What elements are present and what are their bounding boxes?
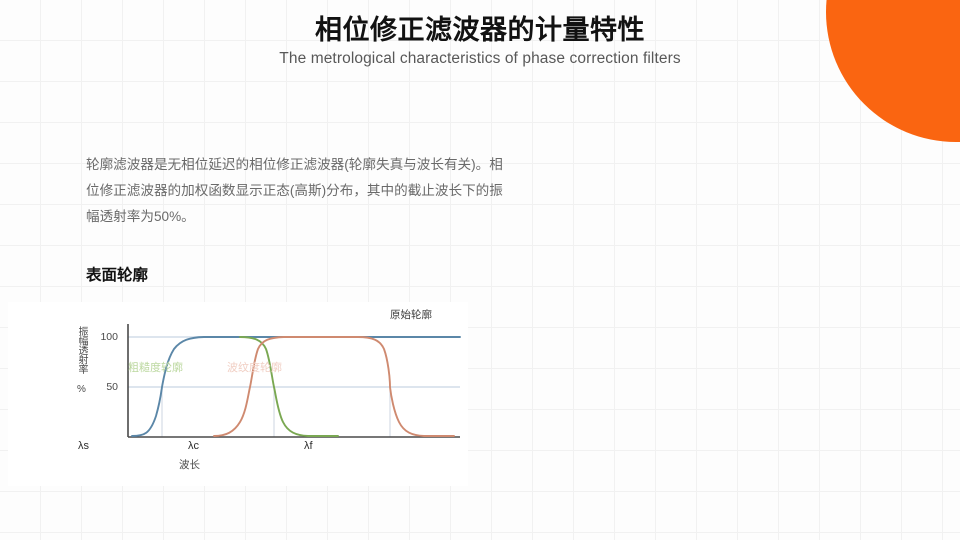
y-axis-tick-50: 50 [92,381,118,393]
page-subtitle: The metrological characteristics of phas… [0,50,960,68]
slide-canvas: 相位修正滤波器的计量特性 The metrological characteri… [0,0,960,540]
annotation-waviness-profile: 波纹度轮廓 [227,359,282,375]
page-title: 相位修正滤波器的计量特性 [0,8,960,47]
y-axis-title: 振幅透射率 % [76,326,86,395]
chart-plot-area: 原始轮廓 粗糙度轮廓 波纹度轮廓 100 50 振幅透射率 % λs λc λf… [8,302,468,486]
section-heading: 表面轮廓 [86,263,148,285]
x-axis-tick-lambda-f: λf [304,440,313,452]
body-paragraph: 轮廓滤波器是无相位延迟的相位修正滤波器(轮廓失真与波长有关)。相位修正滤波器的加… [86,152,506,230]
surface-profile-chart-card: 原始轮廓 粗糙度轮廓 波纹度轮廓 100 50 振幅透射率 % λs λc λf… [8,302,468,486]
y-axis-tick-100: 100 [92,331,118,343]
x-axis-title: 波长 [179,457,200,472]
x-axis-tick-lambda-c: λc [188,440,199,452]
annotation-primary-profile: 原始轮廓 [390,307,432,322]
x-axis-tick-lambda-s: λs [78,440,89,452]
annotation-roughness-profile: 粗糙度轮廓 [128,359,183,375]
